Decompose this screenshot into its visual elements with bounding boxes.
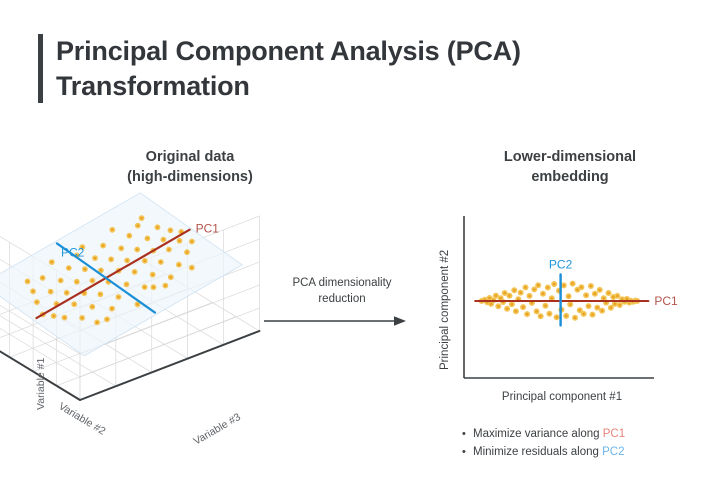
page-title: Principal Component Analysis (PCA) Trans…: [56, 34, 521, 103]
left-panel-heading: Original data (high-dimensions): [60, 148, 320, 187]
bullet-tag-pc2: PC2: [602, 444, 624, 462]
axis-label-variable-2: Variable #2: [56, 400, 107, 437]
2d-scatter-svg: PC1 PC2 Principal component #1 Principal…: [416, 210, 706, 422]
axis-label-variable-3: Variable #3: [192, 411, 243, 448]
bullet-text: Minimize residuals along: [473, 444, 602, 462]
pc2-label-3d: PC2: [61, 245, 85, 259]
axis-label-variable-1: Variable #1: [35, 357, 47, 410]
arrow-right-icon: [262, 313, 412, 329]
key-points-list: • Maximize variance along PC1 • Minimize…: [462, 426, 702, 462]
data-plane: [0, 193, 242, 356]
pc1-label-2d: PC1: [654, 294, 678, 308]
axis-label-pc2: Principal component #2: [439, 250, 451, 370]
right-panel-heading: Lower-dimensional embedding: [440, 148, 700, 187]
list-item: • Maximize variance along PC1: [462, 426, 702, 444]
embedding-2d-plot: PC1 PC2 Principal component #1 Principal…: [416, 210, 706, 422]
bullet-text: Maximize variance along: [473, 426, 603, 444]
axis-label-pc1: Principal component #1: [502, 391, 622, 403]
pc2-label-2d: PC2: [549, 258, 573, 272]
transition-label: PCA dimensionality reduction: [262, 276, 422, 307]
bullet-marker: •: [462, 426, 473, 443]
bullet-marker: •: [462, 444, 473, 461]
title-accent-bar: [38, 34, 43, 103]
page-title-block: Principal Component Analysis (PCA) Trans…: [38, 34, 521, 103]
transition-block: PCA dimensionality reduction: [262, 276, 422, 348]
pc1-label-3d: PC1: [196, 222, 220, 236]
bullet-tag-pc1: PC1: [603, 426, 625, 444]
list-item: • Minimize residuals along PC2: [462, 444, 702, 462]
